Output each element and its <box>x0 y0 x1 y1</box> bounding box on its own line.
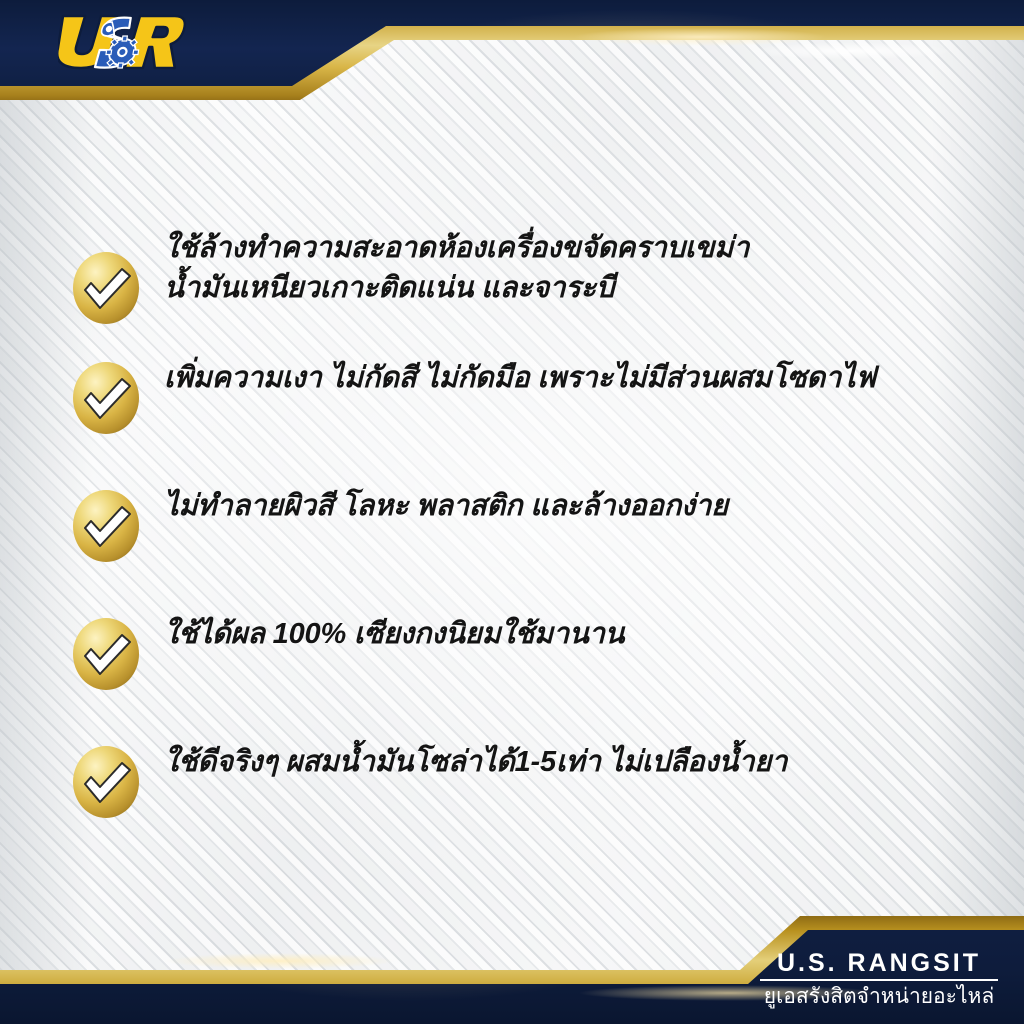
check-circle-icon-svg <box>70 616 142 692</box>
brand-subtitle: ยูเอสรังสิตจำหน่ายอะไหล่ <box>760 981 998 1010</box>
check-circle-icon-svg <box>70 488 142 564</box>
header-white-glow <box>700 38 1000 64</box>
benefit-list: ใช้ล้างทำความสะอาดห้องเครื่องขจัดคราบเขม… <box>70 228 970 868</box>
check-circle-icon-svg <box>70 360 142 436</box>
list-item-label: เพิ่มความเงา ไม่กัดสี ไม่กัดมือ เพราะไม่… <box>164 356 970 398</box>
promo-poster: ใช้ล้างทำความสะอาดห้องเครื่องขจัดคราบเขม… <box>0 0 1024 1024</box>
list-item-label: ใช้ดีจริงๆ ผสมน้ำมันโซล่าได้1-5เท่า ไม่เ… <box>164 740 970 782</box>
check-circle-icon <box>70 360 142 436</box>
list-item: ใช้ดีจริงๆ ผสมน้ำมันโซล่าได้1-5เท่า ไม่เ… <box>70 740 970 868</box>
list-item-label: ใช้ล้างทำความสะอาดห้องเครื่องขจัดคราบเขม… <box>164 228 970 308</box>
list-item-label: ใช้ได้ผล 100% เซียงกงนิยมใช้มานาน <box>164 612 970 654</box>
usr-logo[interactable] <box>58 10 188 72</box>
check-circle-icon <box>70 744 142 820</box>
list-item: ใช้ได้ผล 100% เซียงกงนิยมใช้มานาน <box>70 612 970 740</box>
list-item-label: ไม่ทำลายผิวสี โลหะ พลาสติก และล้างออกง่า… <box>164 484 970 526</box>
check-circle-icon <box>70 488 142 564</box>
footer-band: U.S. RANGSIT ยูเอสรังสิตจำหน่ายอะไหล่ <box>0 910 1024 1024</box>
brand-lockup: U.S. RANGSIT ยูเอสรังสิตจำหน่ายอะไหล่ <box>760 950 998 1011</box>
brand-name: U.S. RANGSIT <box>760 950 998 981</box>
check-circle-icon-svg <box>70 250 142 326</box>
usr-gear-wrench-logo-icon <box>58 10 188 72</box>
check-circle-icon <box>70 250 142 326</box>
list-item: ใช้ล้างทำความสะอาดห้องเครื่องขจัดคราบเขม… <box>70 228 970 356</box>
footer-gold-glow <box>120 950 440 972</box>
header-band <box>0 0 1024 108</box>
check-circle-icon-svg <box>70 744 142 820</box>
check-circle-icon <box>70 616 142 692</box>
list-item: ไม่ทำลายผิวสี โลหะ พลาสติก และล้างออกง่า… <box>70 484 970 612</box>
list-item: เพิ่มความเงา ไม่กัดสี ไม่กัดมือ เพราะไม่… <box>70 356 970 484</box>
